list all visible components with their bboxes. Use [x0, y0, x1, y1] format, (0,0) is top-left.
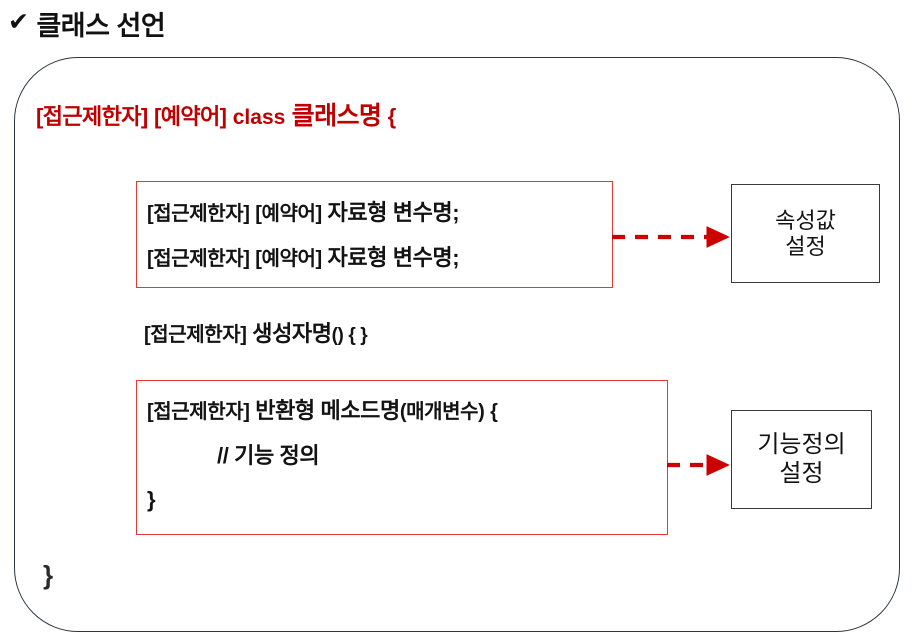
- method-annotation-line-1: 기능정의: [757, 431, 845, 459]
- method-name-token: 메소드명: [321, 398, 400, 423]
- field-declaration-line: [접근제한자] [예약어] 자료형 변수명;: [147, 191, 612, 236]
- check-mark-icon: ✔: [8, 10, 28, 35]
- class-signature-line: [접근제한자] [예약어] class 클래스명 {: [36, 104, 396, 129]
- class-reserved-word-token: [예약어]: [154, 104, 226, 129]
- method-access-modifier-token: [접근제한자]: [147, 401, 250, 423]
- constructor-declaration-line: [접근제한자] 생성자명() { }: [144, 323, 367, 345]
- constructor-body-token: () { }: [332, 325, 368, 346]
- field-declaration-line: [접근제한자] [예약어] 자료형 변수명;: [147, 236, 612, 281]
- method-open-brace-token: {: [490, 401, 497, 423]
- field-data-type-token: 자료형: [328, 200, 388, 225]
- attribute-annotation-line-1: 속성값: [775, 208, 836, 234]
- attribute-annotation-line-2: 설정: [785, 234, 825, 260]
- field-declaration-box: [접근제한자] [예약어] 자료형 변수명; [접근제한자] [예약어] 자료형…: [136, 181, 613, 288]
- class-closing-brace: }: [43, 562, 53, 588]
- constructor-access-modifier-token: [접근제한자]: [144, 324, 247, 346]
- class-access-modifier-token: [접근제한자]: [36, 104, 148, 129]
- field-reserved-word-token: [예약어]: [255, 248, 322, 270]
- field-data-type-token: 자료형: [328, 245, 388, 270]
- constructor-name-token: 생성자명: [252, 321, 331, 346]
- method-connector-arrow-icon: [667, 454, 734, 476]
- attribute-connector-arrow-icon: [612, 226, 734, 248]
- attribute-annotation-box: 속성값 설정: [731, 184, 880, 283]
- method-annotation-line-2: 설정: [779, 460, 823, 488]
- field-access-modifier-token: [접근제한자]: [147, 248, 250, 270]
- field-reserved-word-token: [예약어]: [255, 203, 322, 225]
- field-variable-name-token: 변수명;: [393, 245, 459, 270]
- method-signature-line: [접근제한자] 반환형 메소드명(매개변수) {: [147, 389, 667, 434]
- class-keyword-token: class: [233, 106, 286, 129]
- method-return-type-token: 반환형: [255, 398, 315, 423]
- class-open-brace-token: {: [388, 104, 396, 129]
- method-body-comment-line: // 기능 정의: [147, 434, 667, 478]
- field-variable-name-token: 변수명;: [393, 200, 459, 225]
- class-name-token: 클래스명: [292, 102, 382, 130]
- field-access-modifier-token: [접근제한자]: [147, 203, 250, 225]
- method-parameters-token: (매개변수): [400, 401, 485, 423]
- page-title-text: 클래스 선언: [36, 4, 165, 43]
- method-closing-brace-line: }: [147, 478, 667, 522]
- page-title: ✔ 클래스 선언: [8, 2, 508, 44]
- method-annotation-box: 기능정의 설정: [731, 410, 872, 509]
- method-declaration-box: [접근제한자] 반환형 메소드명(매개변수) { // 기능 정의 }: [136, 380, 668, 535]
